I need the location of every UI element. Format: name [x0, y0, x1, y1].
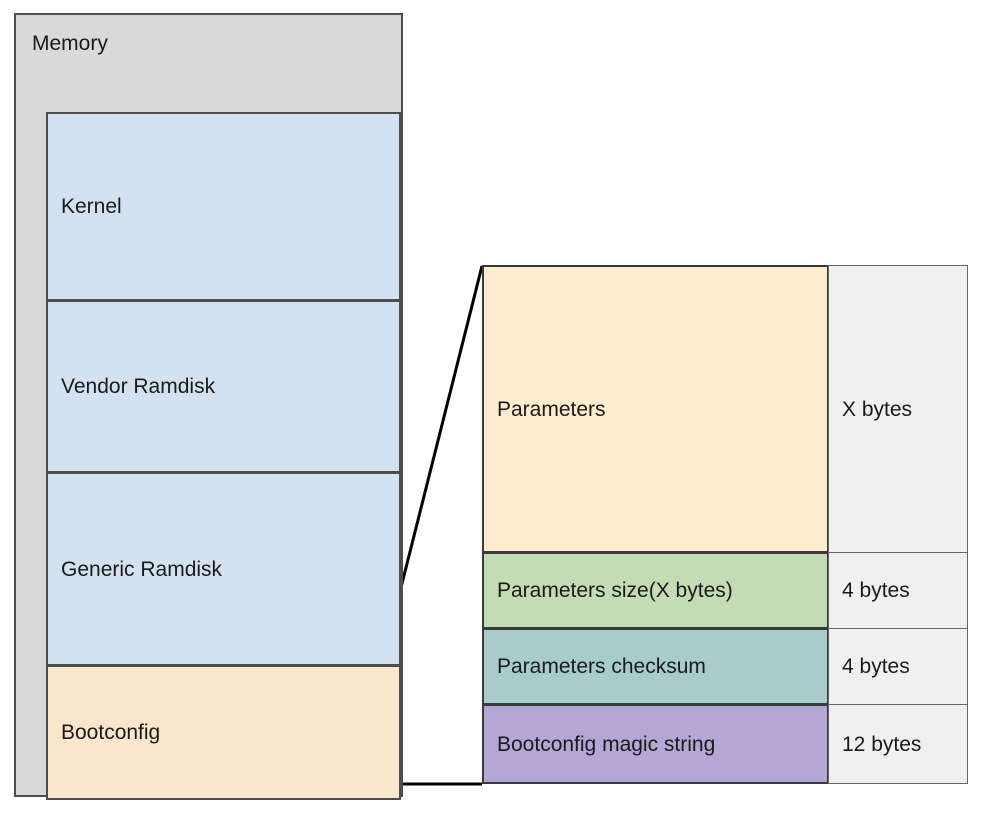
detail-name-label-parameters: Parameters [484, 397, 606, 422]
detail-name-label-parameters-checksum: Parameters checksum [484, 654, 706, 679]
detail-name-cell-bootconfig-magic-string: Bootconfig magic string [482, 704, 829, 784]
memory-segment-bootconfig: Bootconfig [46, 665, 401, 800]
detail-name-cell-parameters-checksum: Parameters checksum [482, 628, 829, 705]
detail-name-cell-parameters: Parameters [482, 265, 829, 553]
memory-segment-kernel: Kernel [46, 112, 401, 301]
detail-size-cell-parameters-checksum: 4 bytes [828, 628, 968, 705]
detail-name-label-bootconfig-magic-string: Bootconfig magic string [484, 732, 715, 757]
detail-row-bootconfig-magic-string: Bootconfig magic string 12 bytes [482, 704, 969, 784]
bootconfig-detail-panel: Parameters X bytes Parameters size(X byt… [482, 265, 969, 785]
detail-size-cell-parameters-size: 4 bytes [828, 552, 968, 629]
detail-size-label-parameters-checksum: 4 bytes [829, 654, 910, 679]
memory-segment-generic-ramdisk: Generic Ramdisk [46, 472, 401, 666]
memory-segment-kernel-label: Kernel [48, 194, 122, 219]
diagram-canvas: Memory Kernel Vendor Ramdisk Generic Ram… [0, 0, 984, 814]
memory-segment-vendor-ramdisk-label: Vendor Ramdisk [48, 374, 215, 399]
detail-size-label-bootconfig-magic-string: 12 bytes [829, 732, 921, 757]
memory-title: Memory [32, 31, 108, 56]
detail-row-parameters-size: Parameters size(X bytes) 4 bytes [482, 552, 969, 629]
detail-row-parameters-checksum: Parameters checksum 4 bytes [482, 628, 969, 705]
detail-size-label-parameters: X bytes [829, 397, 912, 422]
memory-segment-bootconfig-label: Bootconfig [48, 720, 160, 745]
detail-size-label-parameters-size: 4 bytes [829, 578, 910, 603]
detail-size-cell-bootconfig-magic-string: 12 bytes [828, 704, 968, 784]
detail-size-cell-parameters: X bytes [828, 265, 968, 553]
detail-name-label-parameters-size: Parameters size(X bytes) [484, 578, 733, 603]
detail-name-cell-parameters-size: Parameters size(X bytes) [482, 552, 829, 629]
memory-container: Memory Kernel Vendor Ramdisk Generic Ram… [14, 13, 403, 797]
memory-segment-vendor-ramdisk: Vendor Ramdisk [46, 300, 401, 473]
memory-segment-generic-ramdisk-label: Generic Ramdisk [48, 557, 222, 582]
detail-row-parameters: Parameters X bytes [482, 265, 969, 553]
